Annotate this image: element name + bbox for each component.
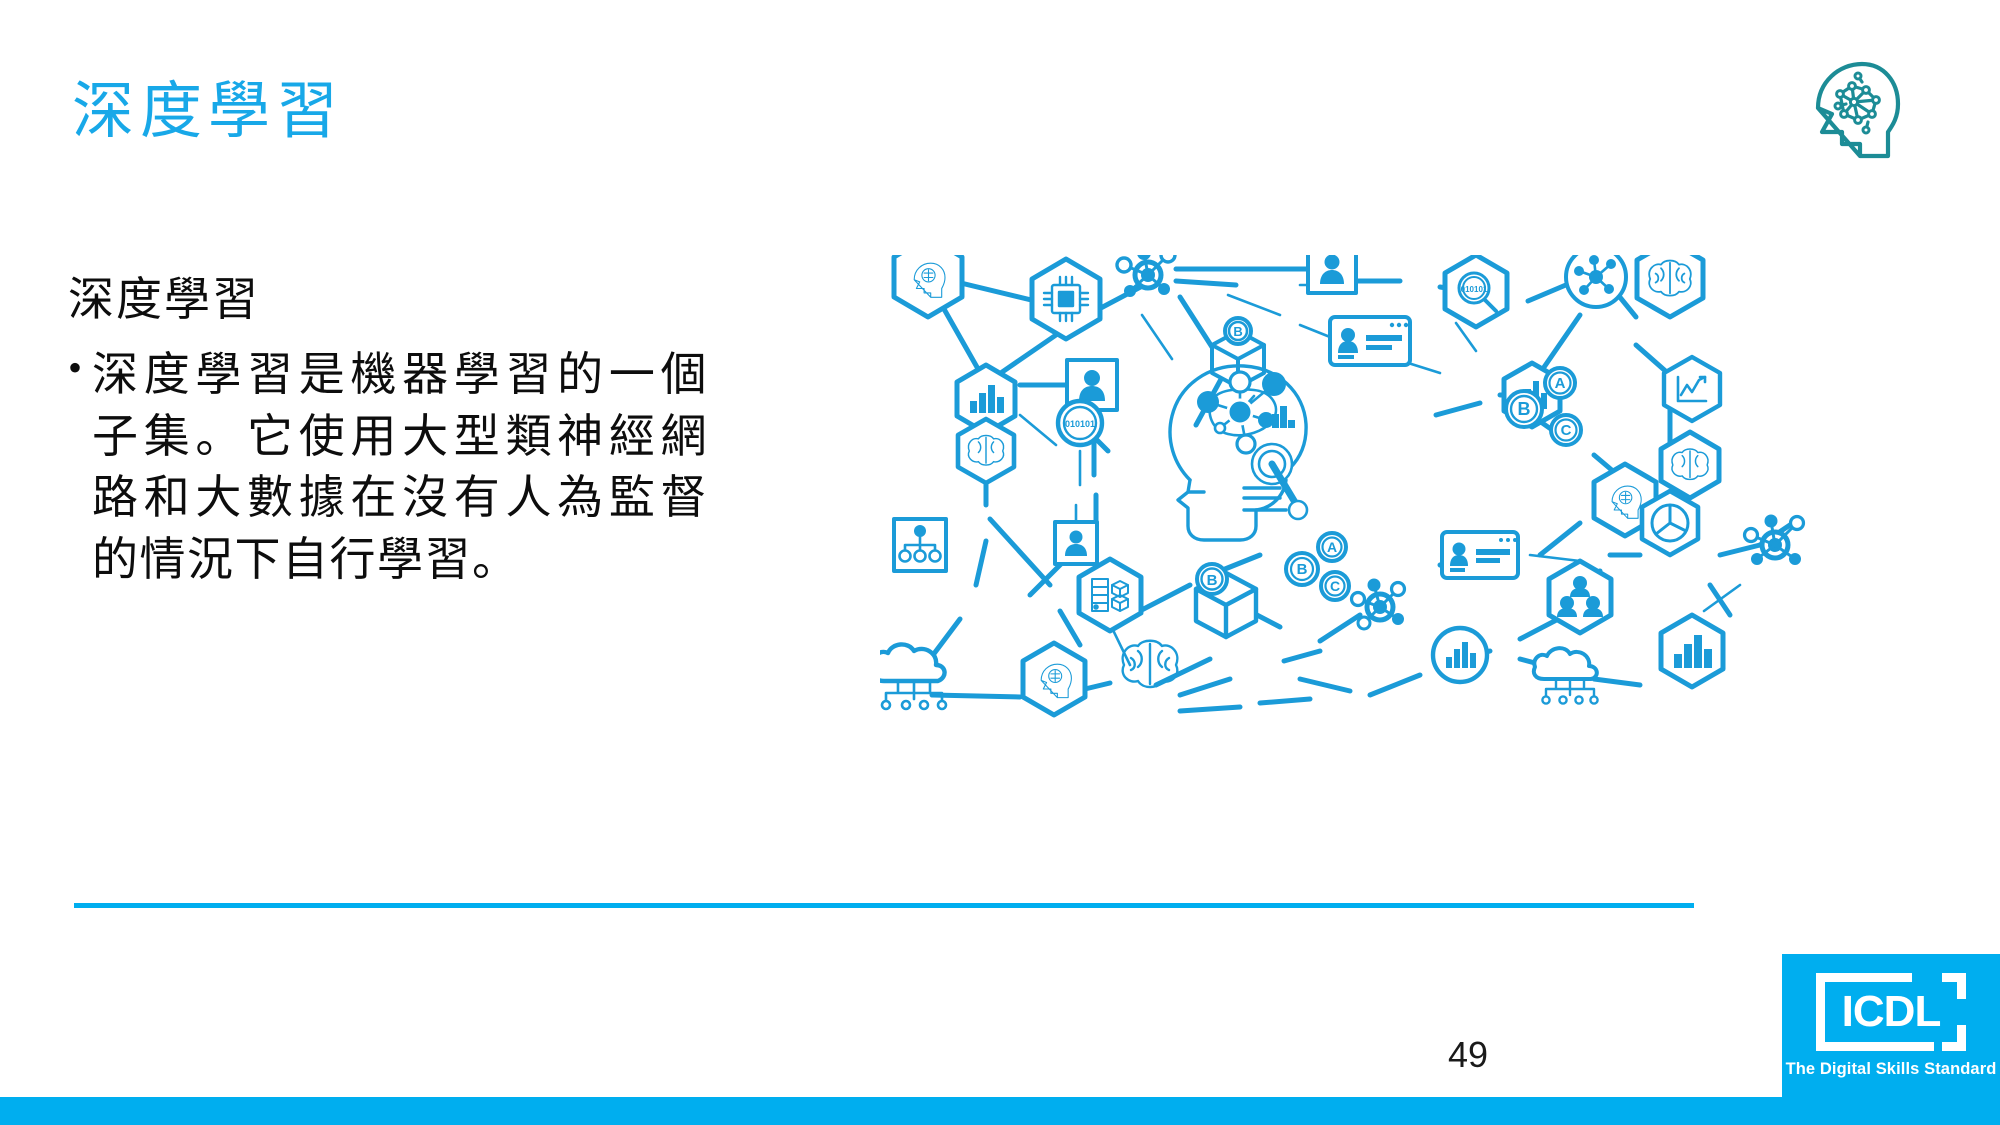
network-hub-circle-icon (1566, 255, 1626, 307)
server-rack-hex-icon (1079, 559, 1141, 631)
bar-chart-circle-icon (1433, 628, 1487, 682)
ai-head-hex-icon (1023, 643, 1085, 715)
binary-magnifier-hex-icon: 010101 (1445, 255, 1507, 327)
letter-c-circle-icon: C (1551, 415, 1581, 445)
svg-text:B: B (1297, 561, 1308, 578)
icdl-logo-mark: ICDL (1816, 973, 1966, 1051)
hierarchy-square-icon (894, 519, 946, 571)
user-square-icon (1055, 522, 1097, 564)
head-neural-network-icon (1810, 58, 1902, 162)
head-with-neural-brain-icon (1170, 366, 1307, 540)
letter-b-circle-icon: B (1286, 553, 1318, 585)
svg-text:B: B (1233, 324, 1242, 339)
ai-network-illustration: B (880, 255, 1890, 875)
bullet-marker: • (68, 342, 82, 395)
id-card-icon (1330, 317, 1410, 365)
network-hub-circle-icon (1117, 255, 1175, 297)
pie-chart-hex-icon (1642, 491, 1698, 555)
svg-text:010101: 010101 (1461, 285, 1488, 294)
ai-head-hex-icon (894, 255, 962, 317)
slide-canvas: 深度學習 深度學習 (0, 0, 2000, 1125)
svg-text:B: B (1207, 572, 1218, 589)
user-square-icon (1308, 255, 1356, 293)
bullet-item: • 深度學習是機器學習的一個子集。它使用大型類神經網路和大數據在沒有人為監督的情… (68, 344, 708, 591)
svg-text:C: C (1330, 578, 1340, 594)
letter-a-circle-icon: A (1545, 368, 1575, 398)
svg-text:C: C (1561, 422, 1572, 439)
body-text-block: 深度學習 • 深度學習是機器學習的一個子集。它使用大型類神經網路和大數據在沒有人… (68, 272, 708, 591)
icdl-tagline: The Digital Skills Standard (1786, 1060, 1997, 1079)
footer-bar (0, 1097, 2000, 1125)
network-hub-circle-icon (1352, 579, 1405, 630)
id-card-icon (1442, 532, 1518, 578)
svg-text:B: B (1518, 399, 1531, 419)
network-hub-circle-icon (1745, 515, 1804, 566)
page-number: 49 (1448, 1034, 1488, 1076)
svg-text:A: A (1555, 375, 1566, 392)
team-group-hex-icon (1549, 561, 1611, 633)
brain-hex-icon (958, 419, 1014, 483)
cube-3d-b-icon: B (1196, 564, 1256, 637)
content-divider (74, 903, 1694, 908)
bar-chart-hex-icon (1661, 615, 1723, 687)
bullet-text: 深度學習是機器學習的一個子集。它使用大型類神經網路和大數據在沒有人為監督的情況下… (92, 344, 708, 591)
letter-b-circle-icon: B (1506, 391, 1542, 427)
icdl-logo: ICDL The Digital Skills Standard (1782, 954, 2000, 1097)
page-title: 深度學習 (72, 78, 344, 146)
cloud-network-icon (1534, 648, 1598, 703)
line-chart-hex-icon (1664, 357, 1720, 421)
lead-heading: 深度學習 (68, 272, 708, 328)
microchip-hex-icon (1032, 259, 1100, 339)
svg-text:010101: 010101 (1065, 419, 1095, 429)
brain-hex-icon (1661, 432, 1719, 498)
icdl-wordmark: ICDL (1842, 990, 1941, 1034)
letter-a-circle-icon: A (1318, 533, 1346, 561)
brain-hex-icon (1637, 255, 1703, 317)
letter-c-circle-icon: C (1321, 572, 1349, 600)
svg-text:A: A (1327, 539, 1337, 555)
